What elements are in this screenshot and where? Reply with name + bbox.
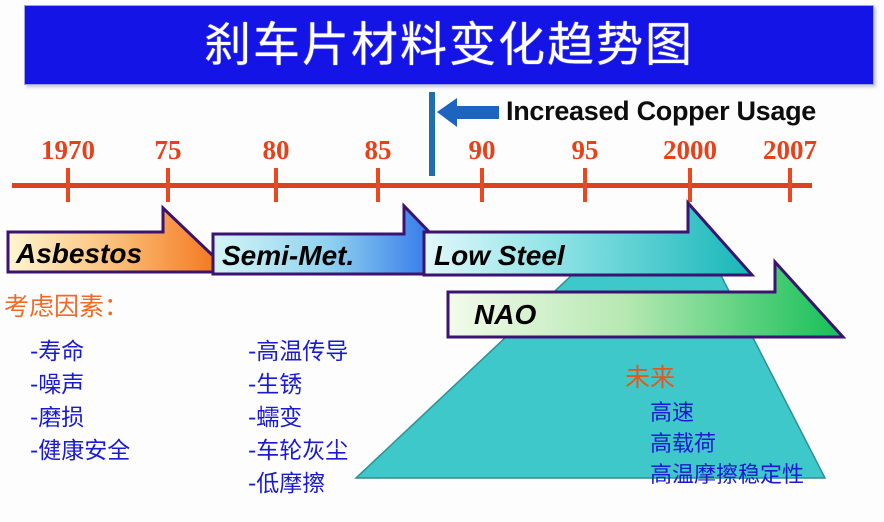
future-title: 未来: [625, 358, 675, 394]
factor-item: -低摩擦: [248, 468, 348, 501]
phase-label-asbestos: Asbestos: [16, 238, 142, 270]
factor-item: -生锈: [248, 369, 348, 402]
slide-canvas: 刹车片材料变化趋势图 Increased Copper Usage 197075…: [0, 0, 884, 522]
factor-item: -健康安全: [30, 435, 130, 468]
phase-label-nao: NAO: [474, 299, 536, 331]
future-item-list: 高速高载荷高温摩擦稳定性: [650, 398, 804, 491]
future-item: 高温摩擦稳定性: [650, 460, 804, 491]
factor-item: -噪声: [30, 369, 130, 402]
future-item: 高载荷: [650, 429, 804, 460]
factor-item: -车轮灰尘: [248, 435, 348, 468]
phase-label-semi-met: Semi-Met.: [222, 240, 354, 272]
factors-title: 考虑因素：: [4, 287, 129, 323]
factor-item: -磨损: [30, 402, 130, 435]
factors-right-column: -高温传导-生锈-蠕变-车轮灰尘-低摩擦: [248, 336, 348, 501]
factor-item: -寿命: [30, 336, 130, 369]
factor-item: -蠕变: [248, 402, 348, 435]
phase-label-low-steel: Low Steel: [434, 240, 565, 272]
future-item: 高速: [650, 398, 804, 429]
factor-item: -高温传导: [248, 336, 348, 369]
factors-left-column: -寿命-噪声-磨损-健康安全: [30, 336, 130, 468]
